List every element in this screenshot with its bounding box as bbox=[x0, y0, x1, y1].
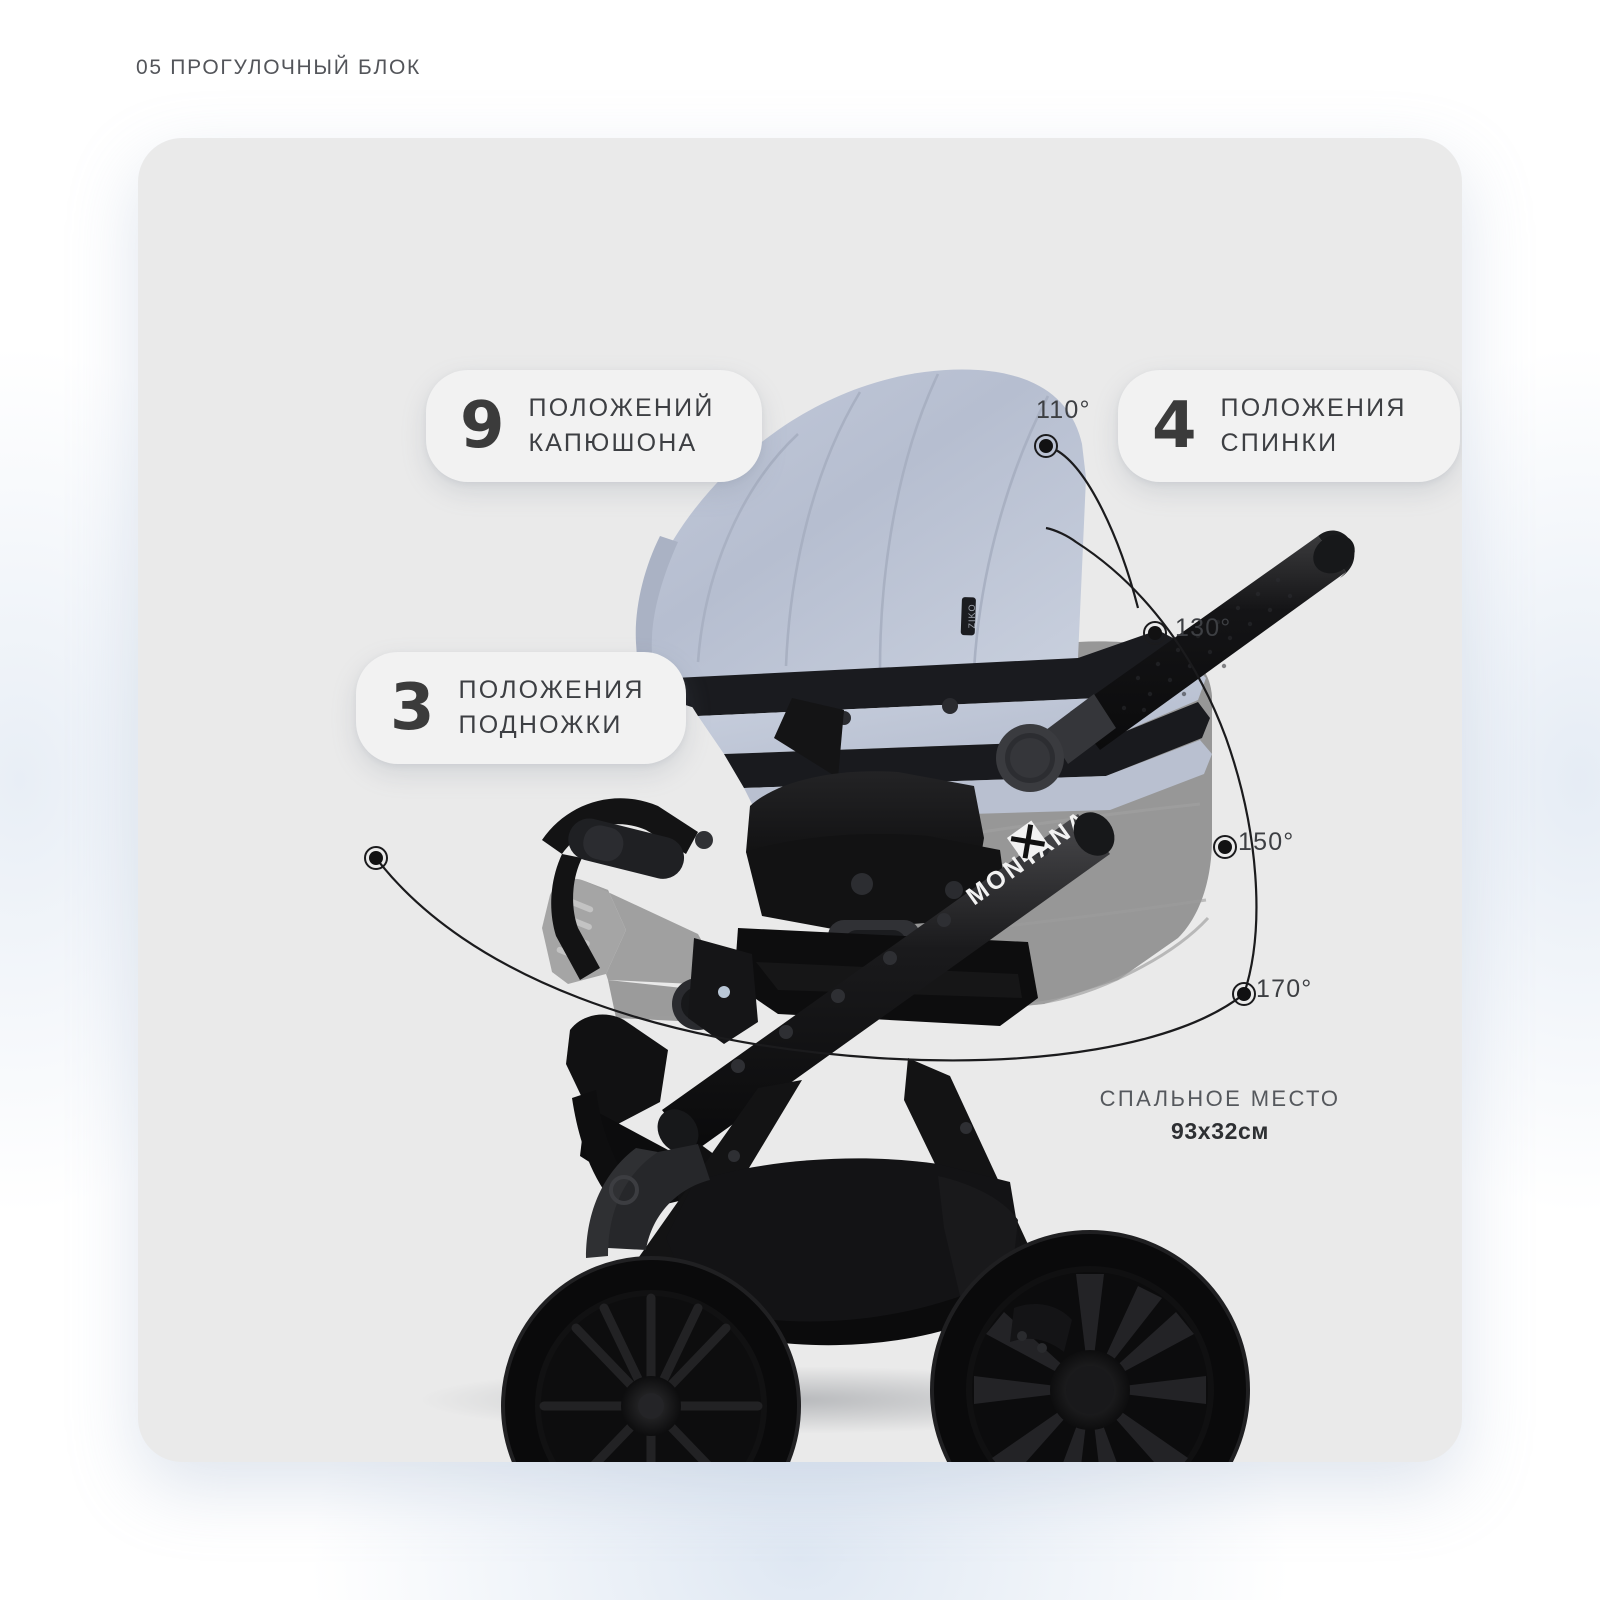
product-stage-card: ZIKO bbox=[138, 138, 1462, 1462]
angle-label-130: 130° bbox=[1175, 614, 1232, 643]
badge-footrest-number: 3 bbox=[390, 676, 435, 740]
badge-hood-positions[interactable]: 9 ПОЛОЖЕНИЙ КАПЮШОНА bbox=[426, 370, 762, 482]
page-title: 05 ПРОГУЛОЧНЫЙ БЛОК bbox=[136, 56, 421, 80]
angle-label-150: 150° bbox=[1238, 828, 1295, 857]
canopy-brand-tag: ZIKO bbox=[961, 597, 977, 635]
badge-backrest-number: 4 bbox=[1152, 394, 1197, 458]
sleeping-place-caption: СПАЛЬНОЕ МЕСТО 93x32см bbox=[1060, 1086, 1380, 1145]
svg-text:ZIKO: ZIKO bbox=[967, 603, 977, 628]
badge-footrest-label: ПОЛОЖЕНИЯ ПОДНОЖКИ bbox=[459, 673, 645, 744]
badge-backrest-label: ПОЛОЖЕНИЯ СПИНКИ bbox=[1221, 391, 1407, 462]
badge-backrest-positions[interactable]: 4 ПОЛОЖЕНИЯ СПИНКИ bbox=[1118, 370, 1460, 482]
dot-150 bbox=[1214, 836, 1236, 858]
stroller-product-image: ZIKO bbox=[138, 138, 1462, 1462]
angle-label-170: 170° bbox=[1256, 975, 1313, 1004]
dot-footrest bbox=[365, 847, 387, 869]
badge-footrest-positions[interactable]: 3 ПОЛОЖЕНИЯ ПОДНОЖКИ bbox=[356, 652, 686, 764]
dot-170 bbox=[1233, 983, 1255, 1005]
badge-hood-label: ПОЛОЖЕНИЙ КАПЮШОНА bbox=[529, 391, 715, 462]
sleeping-place-size: 93x32см bbox=[1060, 1118, 1380, 1145]
angle-label-110: 110° bbox=[1036, 396, 1091, 425]
sleeping-place-title: СПАЛЬНОЕ МЕСТО bbox=[1060, 1086, 1380, 1112]
badge-hood-number: 9 bbox=[460, 394, 505, 458]
